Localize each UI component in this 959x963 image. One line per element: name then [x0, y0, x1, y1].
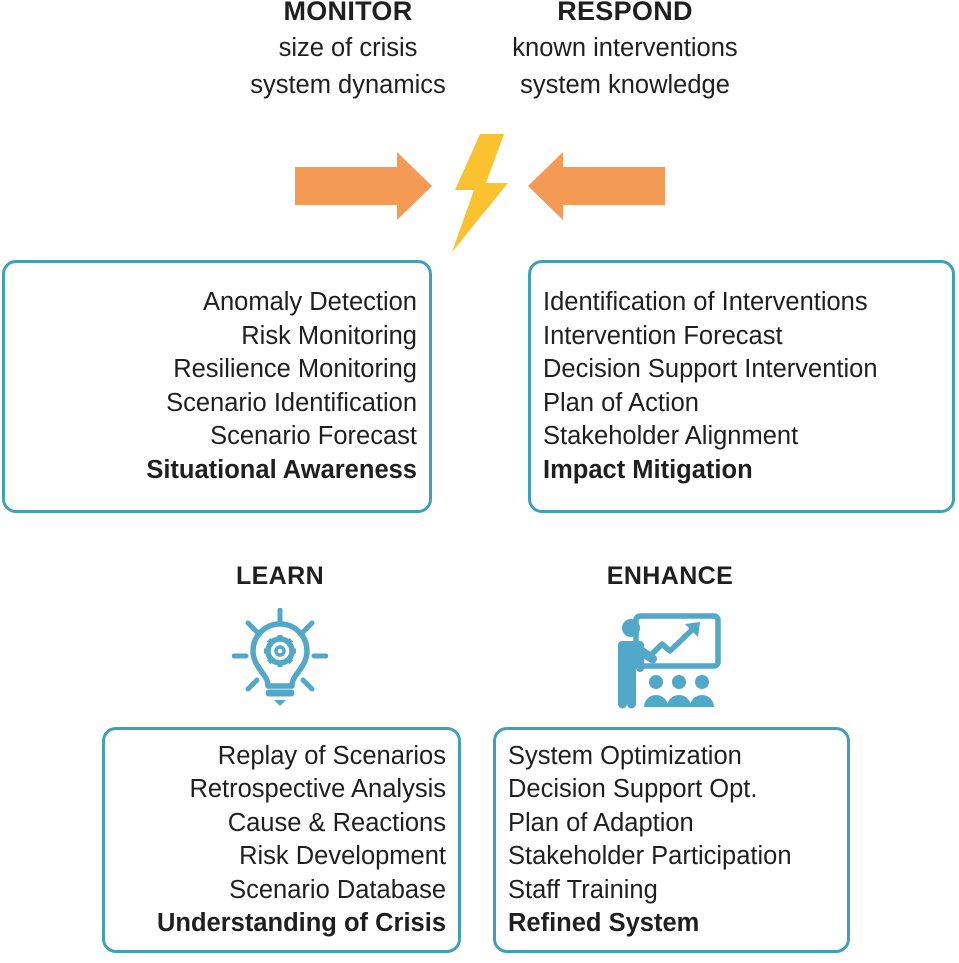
list-item: System Optimization: [508, 740, 835, 774]
arrow-right-icon: [295, 152, 432, 220]
list-item-outcome: Situational Awareness: [17, 454, 417, 488]
lightning-bolt-icon: [452, 134, 508, 252]
monitor-capability-box: Anomaly Detection Risk Monitoring Resili…: [2, 260, 432, 513]
list-item-outcome: Impact Mitigation: [543, 454, 940, 488]
monitor-subtitle-2: system dynamics: [188, 73, 508, 99]
list-item: Scenario Database: [117, 874, 446, 908]
list-item: Stakeholder Alignment: [543, 420, 940, 454]
presenter-whiteboard-audience-icon: [618, 612, 722, 710]
respond-subtitle-2: system knowledge: [465, 73, 785, 99]
learn-capability-box: Replay of Scenarios Retrospective Analys…: [102, 727, 461, 953]
enhance-capability-list: System Optimization Decision Support Opt…: [496, 740, 847, 941]
lightbulb-gear-icon: [232, 608, 328, 708]
enhance-capability-box: System Optimization Decision Support Opt…: [493, 727, 850, 953]
respond-capability-list: Identification of Interventions Interven…: [531, 286, 952, 487]
arrow-left-icon: [528, 152, 665, 220]
list-item: Staff Training: [508, 874, 835, 908]
list-item: Identification of Interventions: [543, 286, 940, 320]
list-item: Replay of Scenarios: [117, 740, 446, 774]
crisis-flow-graphic: [280, 126, 680, 260]
list-item: Anomaly Detection: [17, 286, 417, 320]
list-item: Decision Support Intervention: [543, 353, 940, 387]
monitor-column-header: MONITOR size of crisis system dynamics: [188, 0, 508, 98]
list-item: Risk Monitoring: [17, 320, 417, 354]
list-item: Plan of Action: [543, 387, 940, 421]
respond-capability-box: Identification of Interventions Interven…: [528, 260, 955, 513]
list-item: Scenario Identification: [17, 387, 417, 421]
list-item: Cause & Reactions: [117, 807, 446, 841]
learn-section-title: LEARN: [160, 562, 400, 591]
list-item-outcome: Understanding of Crisis: [117, 907, 446, 941]
list-item: Plan of Adaption: [508, 807, 835, 841]
monitor-capability-list: Anomaly Detection Risk Monitoring Resili…: [5, 286, 429, 487]
respond-subtitle-1: known interventions: [465, 36, 785, 62]
list-item-outcome: Refined System: [508, 907, 835, 941]
list-item: Decision Support Opt.: [508, 773, 835, 807]
enhance-section-title: ENHANCE: [550, 562, 790, 591]
monitor-title: MONITOR: [188, 0, 508, 25]
monitor-subtitle-1: size of crisis: [188, 36, 508, 62]
audience-figures-icon: [644, 675, 714, 707]
respond-column-header: RESPOND known interventions system knowl…: [465, 0, 785, 98]
learn-capability-list: Replay of Scenarios Retrospective Analys…: [105, 740, 458, 941]
list-item: Scenario Forecast: [17, 420, 417, 454]
list-item: Stakeholder Participation: [508, 840, 835, 874]
list-item: Resilience Monitoring: [17, 353, 417, 387]
respond-title: RESPOND: [465, 0, 785, 25]
list-item: Intervention Forecast: [543, 320, 940, 354]
list-item: Risk Development: [117, 840, 446, 874]
list-item: Retrospective Analysis: [117, 773, 446, 807]
